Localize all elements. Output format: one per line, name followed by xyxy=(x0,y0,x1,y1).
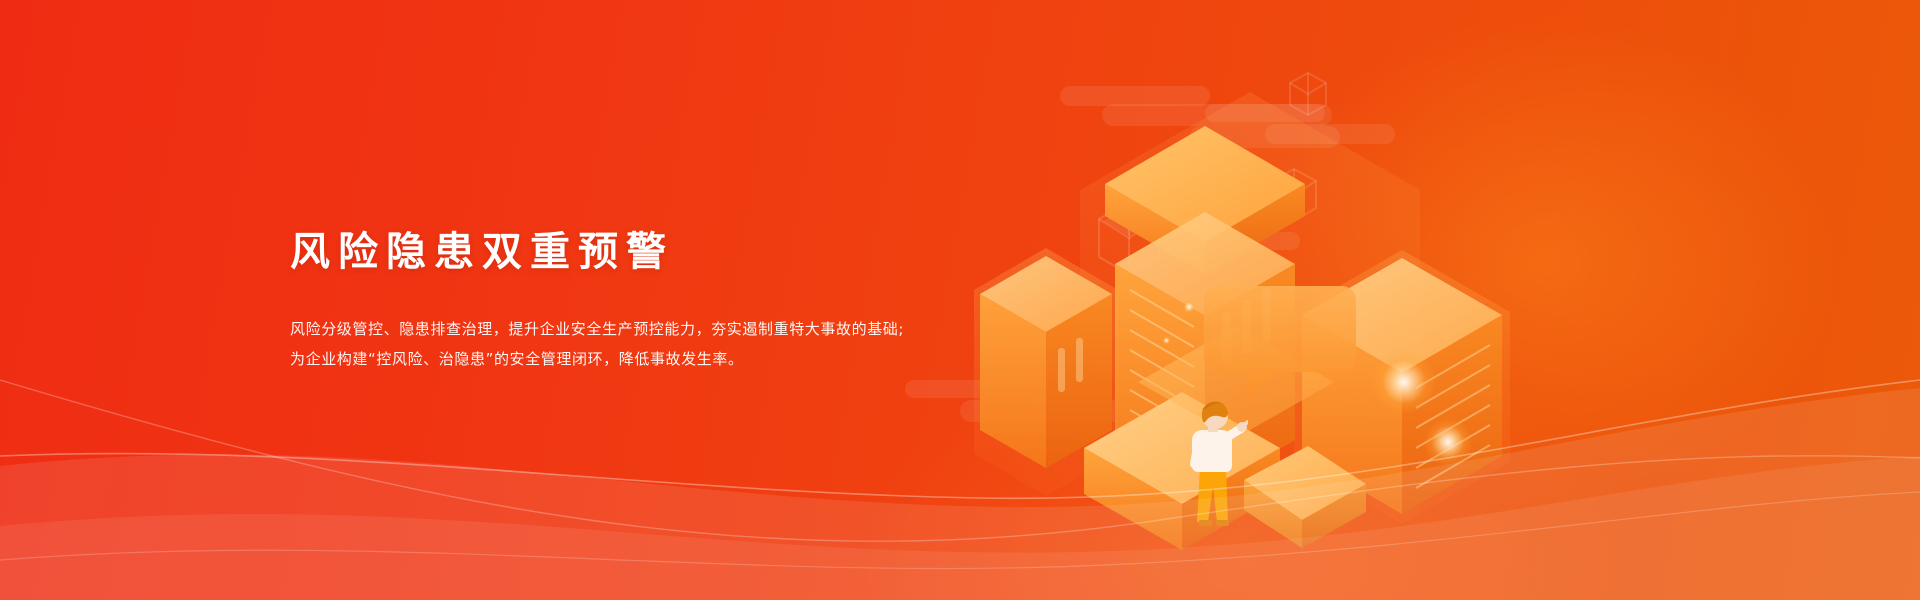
hexagon-cube-icon-corner xyxy=(1286,70,1330,118)
description-line-2: 为企业构建“控风险、治隐患”的安全管理闭环，降低事故发生率。 xyxy=(290,344,1010,374)
cloud-motif-mid xyxy=(1205,104,1405,146)
banner-description: 风险分级管控、隐患排查治理，提升企业安全生产预控能力，夯实遏制重特大事故的基础;… xyxy=(290,314,1010,374)
isometric-box-front xyxy=(1232,444,1372,556)
banner-copy-block: 风险隐患双重预警 风险分级管控、隐患排查治理，提升企业安全生产预控能力，夯实遏制… xyxy=(290,228,1010,374)
pointing-person-illustration xyxy=(1178,398,1248,528)
glow-dot-medium xyxy=(1424,418,1472,466)
hexagon-cube-icon-small xyxy=(1268,166,1320,224)
isometric-speech-block xyxy=(1200,272,1360,412)
description-line-1: 风险分级管控、隐患排查治理，提升企业安全生产预控能力，夯实遏制重特大事故的基础; xyxy=(290,314,1010,344)
cloud-motif-top xyxy=(1060,86,1360,152)
isometric-tower-group xyxy=(950,62,1590,562)
glow-dot-tiny xyxy=(1162,336,1171,345)
glow-dot-large xyxy=(1372,350,1436,414)
cloud-motif-small xyxy=(1190,232,1310,256)
glow-dot-small xyxy=(1182,300,1196,314)
cloud-motif-lower-left xyxy=(905,380,1135,428)
risk-warning-banner: 风险隐患双重预警 风险分级管控、隐患排查治理，提升企业安全生产预控能力，夯实遏制… xyxy=(0,0,1920,600)
hexagon-cube-icon-large xyxy=(1093,198,1165,278)
page-title: 风险隐患双重预警 xyxy=(290,228,1010,276)
background-glow-right xyxy=(1140,0,1920,600)
